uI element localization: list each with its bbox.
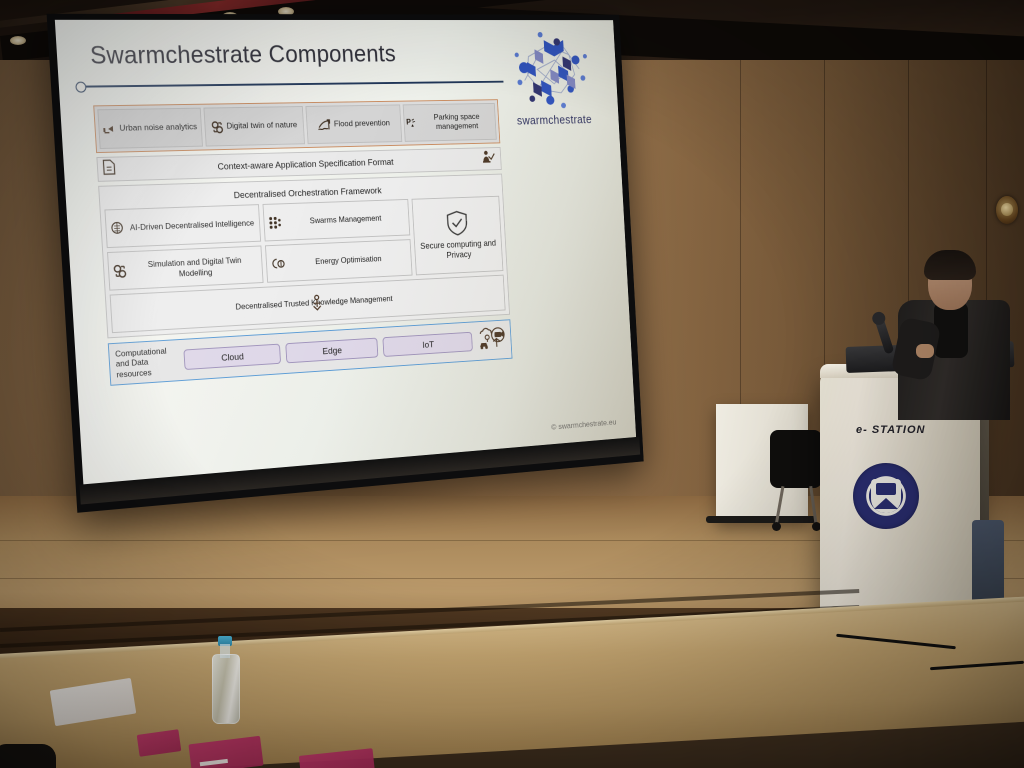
spec-format-label: Context-aware Application Specification … — [217, 156, 393, 171]
gears-icon — [210, 120, 224, 133]
framework-cell-label: Decentralised Trusted Knowledge Manageme… — [115, 288, 500, 318]
university-crest-icon — [853, 463, 919, 529]
use-case-digital-twin: Digital twin of nature — [203, 106, 304, 147]
cloud-vehicle-camera-icon — [477, 325, 507, 355]
water-bottle — [210, 636, 240, 722]
framework-cell-label: Energy Optimisation — [288, 253, 407, 268]
isometric-cube-network-icon — [510, 29, 592, 113]
framework-cell-label: Swarms Management — [285, 213, 405, 227]
resource-chip-iot: IoT — [383, 332, 473, 357]
gears-icon — [113, 264, 128, 278]
framework-cell-label: AI-Driven Decentralised Intelligence — [128, 218, 255, 233]
logo-wordmark: swarmchestrate — [502, 113, 606, 128]
flipchart-base — [706, 516, 816, 523]
office-chair — [770, 430, 822, 488]
logo: swarmchestrate — [497, 29, 607, 138]
energy-leaf-icon — [270, 257, 285, 270]
podium-brand-label: e- STATION — [856, 424, 925, 436]
use-case-label: Digital twin of nature — [226, 121, 297, 132]
framework-cell-simulation: Simulation and Digital Twin Modelling — [107, 245, 264, 290]
parking-sensor-icon: P — [406, 116, 418, 129]
secure-computing-block: Secure computing and Privacy — [412, 196, 504, 276]
use-case-urban-noise: Urban noise analytics — [97, 108, 202, 149]
orchestration-framework: Decentralised Orchestration Framework AI… — [98, 174, 510, 339]
ai-brain-icon — [110, 221, 125, 236]
use-case-label: Flood prevention — [334, 119, 390, 129]
presentation-slide: Swarmchestrate Components — [55, 20, 636, 485]
framework-cell-ai: AI-Driven Decentralised Intelligence — [104, 204, 261, 248]
knowledge-anchor-icon — [309, 294, 324, 311]
speaker-hand — [916, 344, 934, 358]
shield-check-icon — [445, 210, 468, 237]
secure-computing-label: Secure computing and Privacy — [417, 238, 499, 262]
use-case-label: Urban noise analytics — [119, 122, 197, 133]
framework-cell-label: Simulation and Digital Twin Modelling — [131, 255, 259, 280]
svg-text:P: P — [406, 118, 412, 127]
title-dot-marker — [75, 82, 86, 93]
ceiling-light — [10, 36, 26, 45]
page-title: Swarmchestrate Components — [89, 41, 396, 71]
noise-sensor-icon — [103, 123, 117, 135]
use-case-flood: Flood prevention — [305, 104, 402, 144]
user-check-icon — [482, 149, 496, 168]
use-case-parking: P Parking space management — [403, 103, 497, 142]
flood-wave-icon — [318, 118, 332, 131]
chair-wheel — [772, 522, 781, 531]
swarm-nodes-icon — [268, 215, 282, 229]
resource-chip-cloud: Cloud — [183, 344, 280, 370]
title-underline — [82, 81, 503, 87]
document-icon — [102, 159, 116, 180]
resource-chip-edge: Edge — [285, 338, 379, 364]
framework-cell-swarms: Swarms Management — [263, 199, 411, 242]
foreground-chair — [0, 744, 56, 768]
slide-diagram: Urban noise analytics Digital twin of na… — [93, 99, 512, 386]
lecture-hall-photo: e- STATION Swarmchestrate Components — [0, 0, 1024, 768]
bottle-body — [212, 654, 240, 724]
resources-label: Computational and Data resources — [115, 345, 179, 379]
framework-cell-energy: Energy Optimisation — [265, 239, 413, 283]
use-case-label: Parking space management — [420, 112, 494, 132]
speaker-hair — [924, 250, 976, 280]
projection-screen: Swarmchestrate Components — [47, 14, 644, 513]
wall-clock-icon — [996, 196, 1018, 224]
slide-footer: © swarmchestrate.eu — [551, 417, 617, 431]
use-case-row: Urban noise analytics Digital twin of na… — [93, 99, 500, 153]
